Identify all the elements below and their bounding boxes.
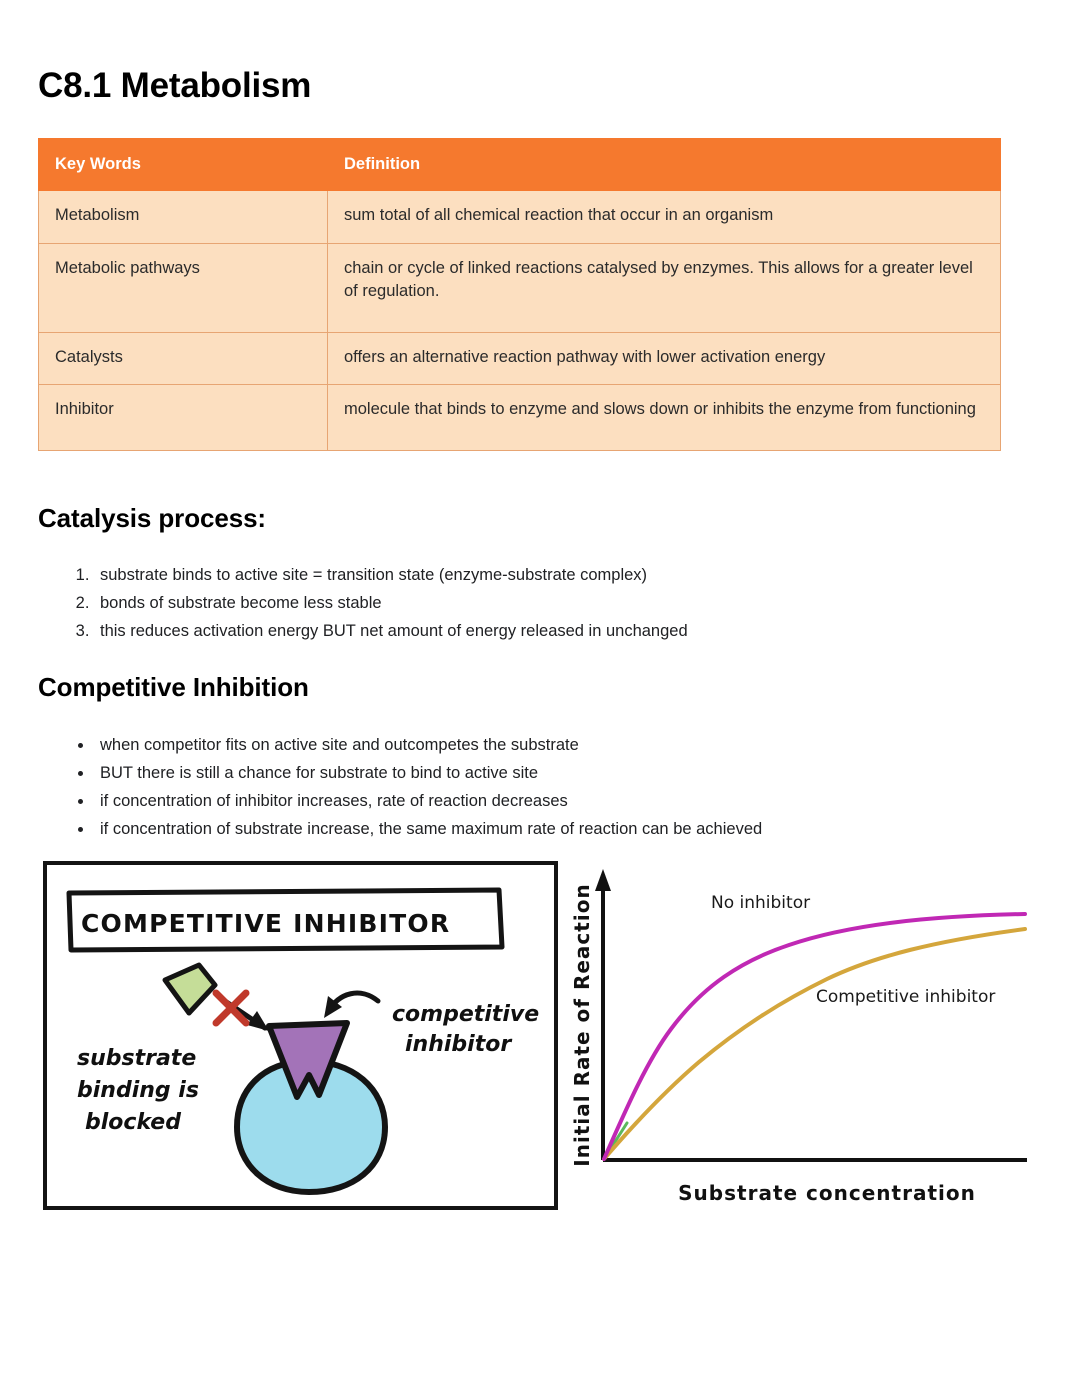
list-item: bonds of substrate become less stable [94,590,688,616]
x-axis-label: Substrate concentration [678,1181,976,1205]
key-words-table: Key Words Definition Metabolism sum tota… [38,138,1001,451]
annotation-no-inhibitor: No inhibitor [711,893,810,913]
table-row: Catalysts offers an alternative reaction… [39,332,1001,384]
series-competitive-inhibitor-curve [604,929,1025,1159]
column-header-definition: Definition [328,139,1001,191]
cell-term: Metabolic pathways [39,243,328,332]
annotation-competitive-inhibitor: Competitive inhibitor [816,987,995,1007]
list-item: if concentration of substrate increase, … [94,816,762,842]
table-row: Metabolic pathways chain or cycle of lin… [39,243,1001,332]
column-header-key-words: Key Words [39,139,328,191]
competitive-inhibition-bullets: when competitor fits on active site and … [62,732,762,844]
cell-term: Metabolism [39,191,328,243]
cell-definition: chain or cycle of linked reactions catal… [328,243,1001,332]
blocked-cross-icon [216,993,246,1023]
table-header-row: Key Words Definition [39,139,1001,191]
catalysis-steps-list: substrate binds to active site = transit… [62,562,688,646]
cell-term: Catalysts [39,332,328,384]
list-item: substrate binds to active site = transit… [94,562,688,588]
table-row: Inhibitor molecule that binds to enzyme … [39,385,1001,450]
label-substrate-blocked-line1: substrate [77,1046,196,1071]
sketch-title-text: COMPETITIVE INHIBITOR [81,909,450,938]
heading-catalysis-process: Catalysis process: [38,503,266,534]
list-item: this reduces activation energy BUT net a… [94,618,688,644]
substrate-arrow-head-icon [247,1011,269,1031]
substrate-shape-icon [165,965,215,1013]
series-no-inhibitor-curve [604,914,1025,1159]
cell-definition: sum total of all chemical reaction that … [328,191,1001,243]
y-axis-arrow-icon [595,869,611,891]
label-substrate-blocked-line3: blocked [85,1110,181,1135]
label-substrate-blocked-line2: binding is [77,1078,199,1103]
cell-definition: molecule that binds to enzyme and slows … [328,385,1001,450]
competitive-inhibitor-sketch: COMPETITIVE INHIBITOR competitive inhibi… [43,861,558,1210]
list-item: when competitor fits on active site and … [94,732,762,758]
list-item: if concentration of inhibitor increases,… [94,788,762,814]
heading-competitive-inhibition: Competitive Inhibition [38,672,309,703]
label-competitive-inhibitor-line2: inhibitor [405,1032,512,1057]
cell-definition: offers an alternative reaction pathway w… [328,332,1001,384]
cell-term: Inhibitor [39,385,328,450]
list-item: BUT there is still a chance for substrat… [94,760,762,786]
document-page: C8.1 Metabolism Key Words Definition Met… [0,0,1080,1397]
label-competitive-inhibitor-line1: competitive [392,1002,539,1027]
sketch-svg: COMPETITIVE INHIBITOR competitive inhibi… [47,865,562,1214]
y-axis-label: Initial Rate of Reaction [570,883,594,1166]
chart-svg: No inhibitor Competitive inhibitor Initi… [565,855,1065,1225]
table-row: Metabolism sum total of all chemical rea… [39,191,1001,243]
figures-row: COMPETITIVE INHIBITOR competitive inhibi… [0,855,1080,1235]
page-title: C8.1 Metabolism [38,66,311,106]
enzyme-kinetics-chart: No inhibitor Competitive inhibitor Initi… [565,855,1065,1225]
